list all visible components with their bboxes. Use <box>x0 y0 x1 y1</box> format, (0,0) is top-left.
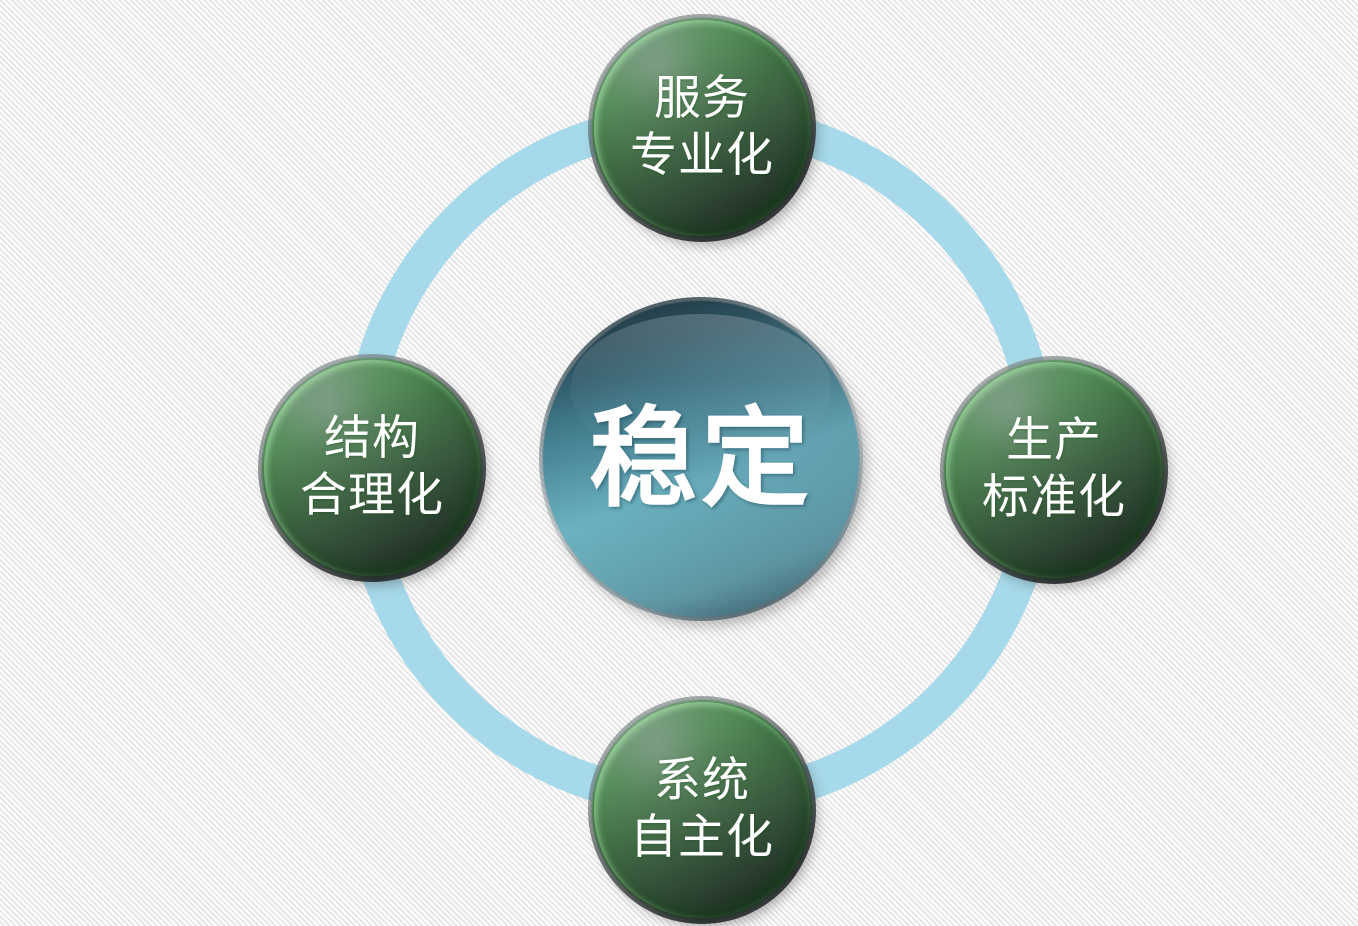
center-hub-label: 稳定 <box>589 402 813 515</box>
center-hub-node[interactable]: 稳定 <box>543 301 859 617</box>
node-bottom[interactable]: 系统 自主化 <box>592 700 812 920</box>
node-right[interactable]: 生产 标准化 <box>944 360 1164 580</box>
node-top-label: 服务 专业化 <box>630 71 774 186</box>
node-top[interactable]: 服务 专业化 <box>592 18 812 238</box>
node-right-label: 生产 标准化 <box>982 413 1126 528</box>
diagram-canvas: 稳定 服务 专业化 生产 标准化 系统 自主化 结构 合理化 <box>0 0 1358 926</box>
node-left-label: 结构 合理化 <box>300 411 444 526</box>
node-bottom-label: 系统 自主化 <box>630 753 774 868</box>
node-left[interactable]: 结构 合理化 <box>262 358 482 578</box>
